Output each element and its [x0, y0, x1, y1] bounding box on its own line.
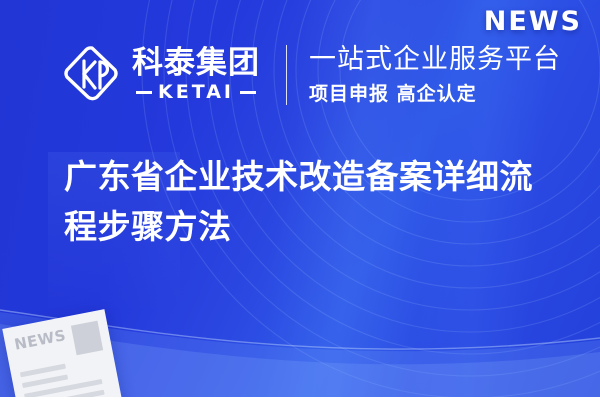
- wordmark-dash-left: [136, 91, 152, 94]
- header-divider: [286, 45, 287, 105]
- ketai-logo-icon: [60, 43, 124, 107]
- newspaper-image-block: [71, 321, 103, 356]
- tagline-secondary: 项目申报 高企认定: [309, 79, 561, 106]
- wordmark-dash-right: [240, 91, 256, 94]
- brand-tagline: 一站式企业服务平台 项目申报 高企认定: [309, 44, 561, 106]
- brand-name-cn: 科泰集团: [132, 47, 260, 80]
- tagline-primary: 一站式企业服务平台: [309, 44, 561, 75]
- news-watermark-label: NEWS: [484, 6, 582, 37]
- news-banner: NEWS 科泰集团 KETAI 一站式企业服务平台: [0, 0, 600, 400]
- brand-name-en: KETAI: [158, 81, 234, 103]
- brand-header: 科泰集团 KETAI 一站式企业服务平台 项目申报 高企认定: [60, 38, 561, 112]
- brand-name-en-row: KETAI: [136, 81, 256, 103]
- brand-wordmark: 科泰集团 KETAI: [132, 47, 260, 104]
- article-title: 广东省企业技术改造备案详细流程步骤方法: [64, 152, 554, 252]
- newspaper-masthead: NEWS: [13, 326, 68, 354]
